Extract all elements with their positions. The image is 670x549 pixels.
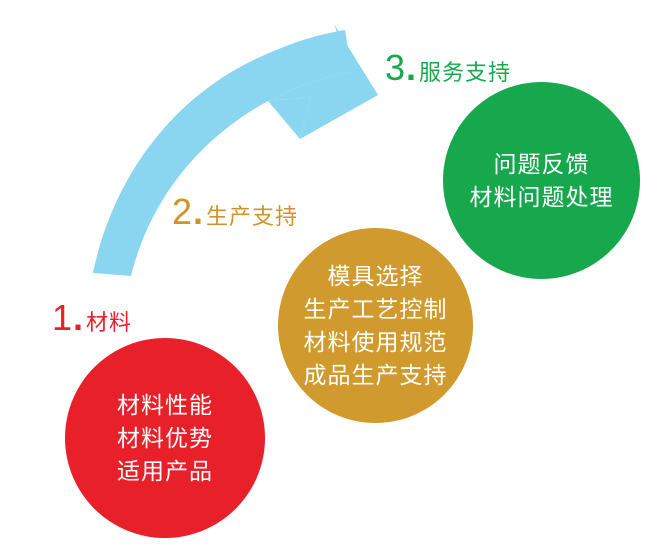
- step-3-label-text: 服务支持: [419, 62, 511, 84]
- step-1-item: 材料优势: [117, 422, 213, 455]
- step-1-item: 适用产品: [117, 455, 213, 488]
- step-1-label-text: 材料: [86, 312, 132, 334]
- diagram-canvas: 1 . 材料 2 . 生产支持 3 . 服务支持 材料性能 材料优势 适用产品 …: [0, 0, 670, 549]
- step-1-number: 1: [52, 300, 72, 336]
- step-2-label-text: 生产支持: [206, 206, 298, 228]
- step-1-separator: .: [73, 300, 83, 336]
- step-3-circle[interactable]: 问题反馈 材料问题处理: [443, 82, 640, 279]
- step-3-item: 问题反馈: [494, 148, 590, 181]
- step-3-label: 3 . 服务支持: [385, 50, 511, 86]
- step-2-number: 2: [172, 194, 192, 230]
- arrow-head-shape: [268, 24, 378, 139]
- step-1-item: 材料性能: [117, 389, 213, 422]
- step-2-item: 成品生产支持: [304, 359, 448, 392]
- step-2-label: 2 . 生产支持: [172, 194, 298, 230]
- step-2-item: 材料使用规范: [304, 326, 448, 359]
- step-3-separator: .: [406, 50, 416, 86]
- step-2-separator: .: [193, 194, 203, 230]
- step-1-circle[interactable]: 材料性能 材料优势 适用产品: [65, 338, 265, 538]
- step-2-item: 模具选择: [328, 260, 424, 293]
- arrow-barb-shape: [268, 97, 311, 139]
- step-1-label: 1 . 材料: [52, 300, 132, 336]
- step-3-number: 3: [385, 50, 405, 86]
- step-3-item: 材料问题处理: [470, 181, 614, 214]
- arrow-body-shape: [93, 30, 352, 276]
- step-2-circle[interactable]: 模具选择 生产工艺控制 材料使用规范 成品生产支持: [278, 228, 473, 423]
- step-2-item: 生产工艺控制: [304, 293, 448, 326]
